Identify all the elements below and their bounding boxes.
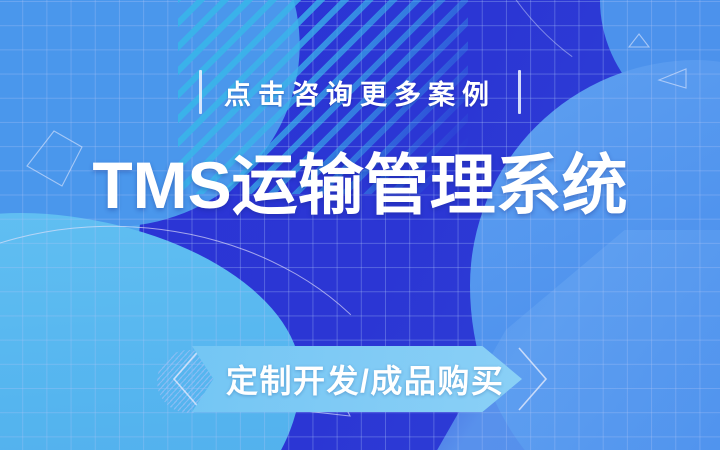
divider-right-icon bbox=[518, 70, 521, 114]
promo-banner: 点击咨询更多案例 TMS运输管理系统 定制开发/成品购买 bbox=[0, 0, 720, 450]
eyebrow-text: 点击咨询更多案例 bbox=[224, 73, 496, 112]
eyebrow-row: 点击咨询更多案例 bbox=[0, 68, 720, 116]
cta-banner[interactable]: 定制开发/成品购买 bbox=[0, 344, 720, 414]
page-title: TMS运输管理系统 bbox=[0, 152, 720, 218]
cta-banner-shape[interactable]: 定制开发/成品购买 bbox=[192, 346, 522, 412]
divider-left-icon bbox=[199, 70, 202, 114]
cta-banner-label: 定制开发/成品购买 bbox=[192, 356, 504, 402]
triangle-outline-small bbox=[628, 34, 650, 48]
chevron-right-outline-icon bbox=[516, 346, 550, 412]
